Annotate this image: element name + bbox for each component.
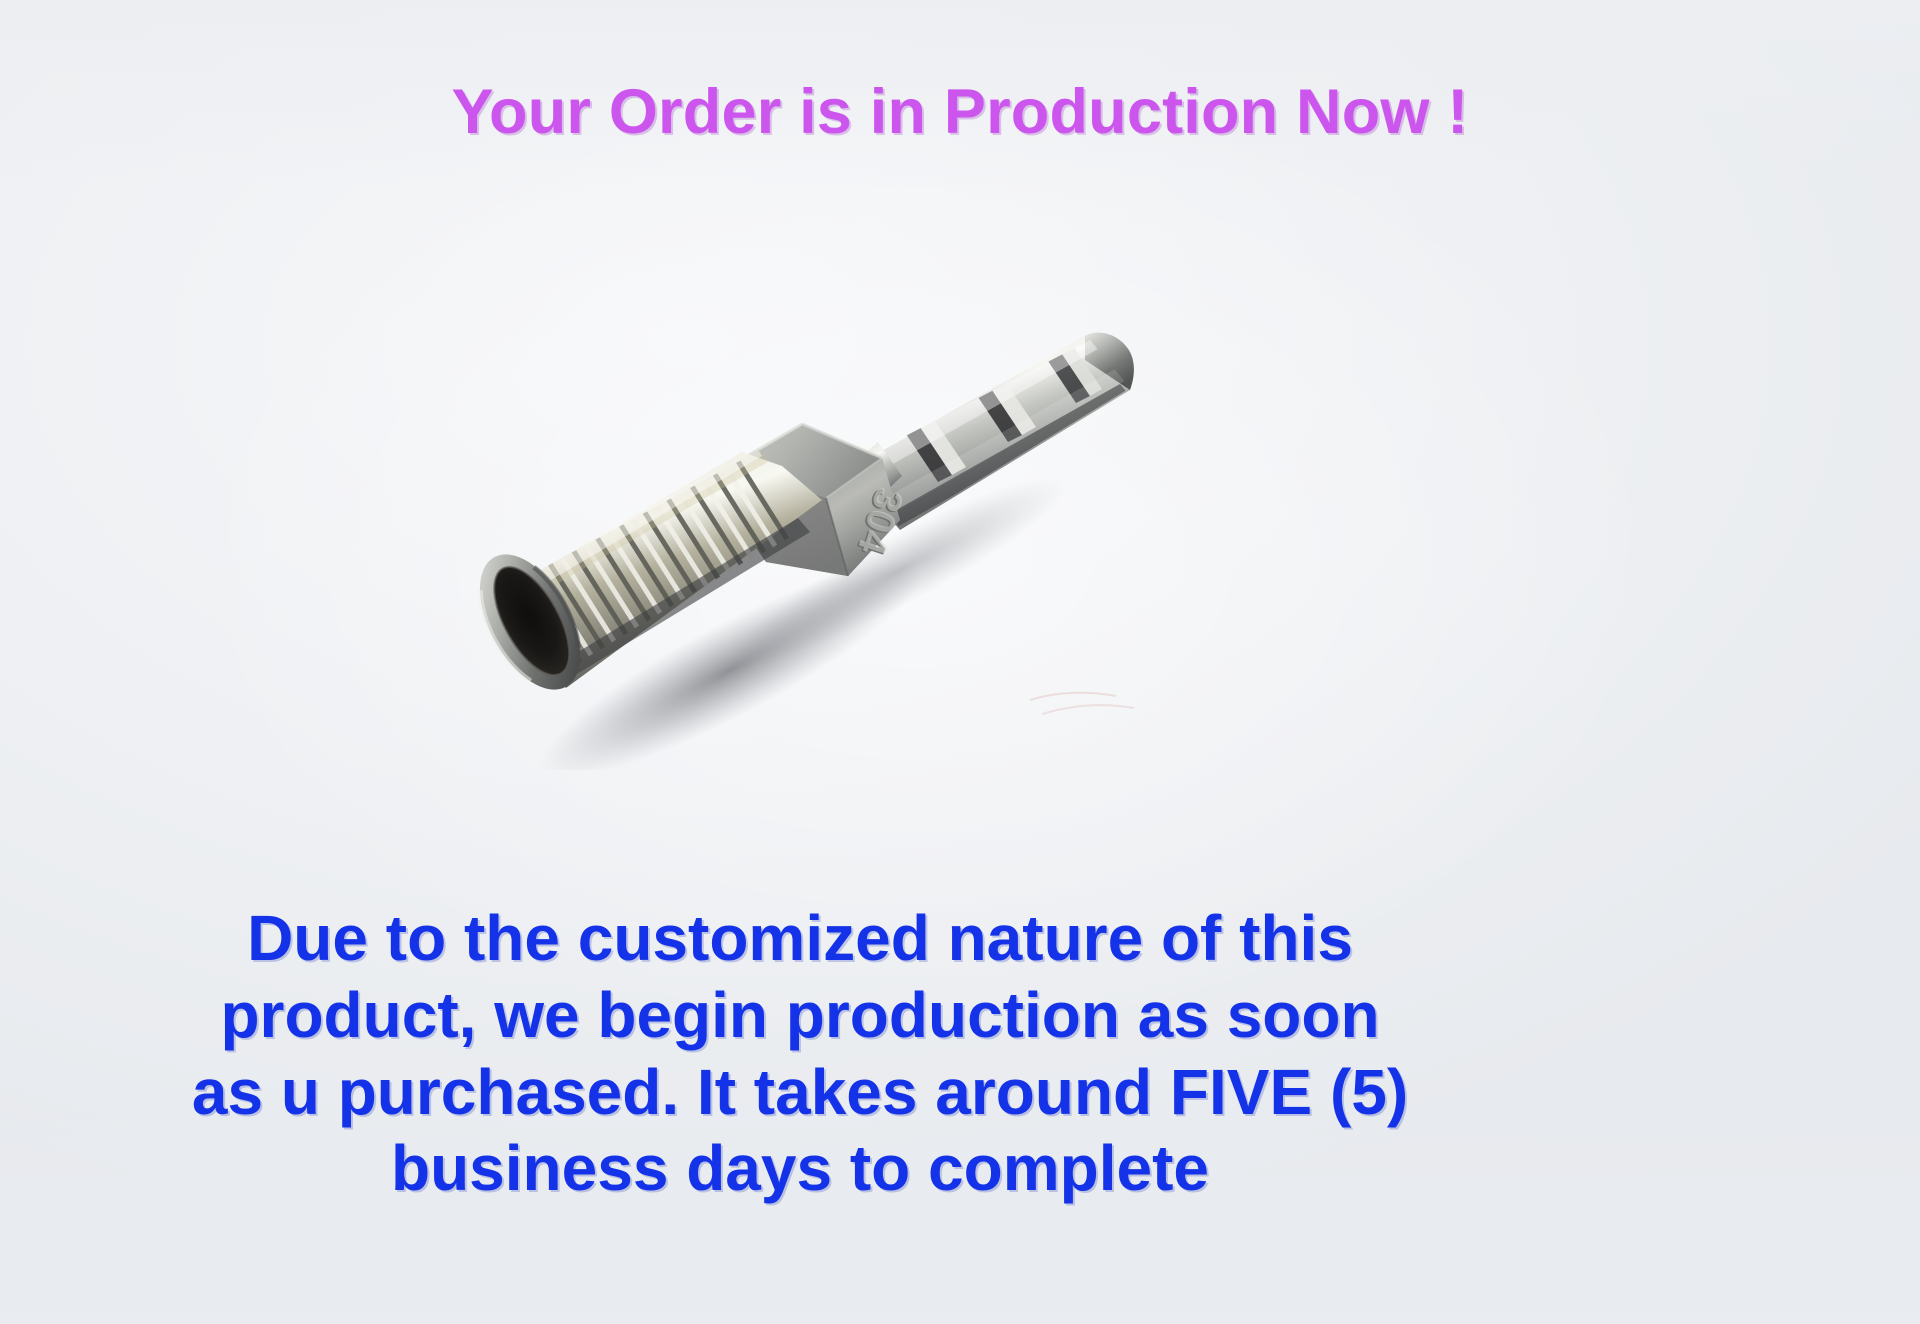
- notice-line-2: product, we begin production as soon: [105, 977, 1495, 1054]
- promo-banner: 304 304: [0, 0, 1920, 1324]
- product-illustration: 304 304: [430, 270, 1190, 770]
- background-scuff: [1030, 693, 1134, 714]
- notice-line-3: as u purchased. It takes around FIVE (5): [105, 1054, 1495, 1131]
- production-notice: Due to the customized nature of this pro…: [105, 900, 1495, 1207]
- product-photo: 304 304: [430, 270, 1190, 770]
- page-title: Your Order is in Production Now !: [0, 78, 1920, 146]
- notice-line-4: business days to complete: [105, 1130, 1495, 1207]
- notice-line-1: Due to the customized nature of this: [105, 900, 1495, 977]
